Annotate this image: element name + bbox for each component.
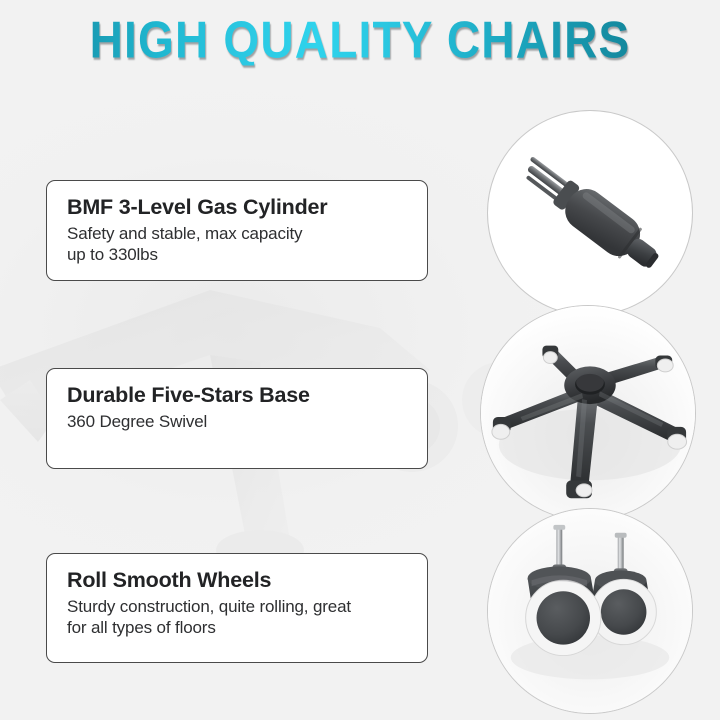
feature-title: Durable Five-Stars Base [67,383,407,408]
feature-title: Roll Smooth Wheels [67,568,407,593]
feature-description: Sturdy construction, quite rolling, grea… [67,596,407,640]
product-image-gas-cylinder [487,110,693,316]
product-image-five-star-base [480,305,696,521]
feature-card-five-star-base: Durable Five-Stars Base 360 Degree Swive… [46,368,428,469]
feature-card-gas-cylinder: BMF 3-Level Gas Cylinder Safety and stab… [46,180,428,281]
feature-title: BMF 3-Level Gas Cylinder [67,195,407,220]
page-title-container: HIGH QUALITY CHAIRS [0,14,720,60]
product-image-caster-wheels [487,508,693,714]
feature-description: Safety and stable, max capacity up to 33… [67,223,407,267]
feature-description: 360 Degree Swivel [67,411,407,433]
infographic-page: HIGH QUALITY CHAIRS BMF 3-Level Gas Cyli… [0,0,720,720]
feature-card-roll-smooth-wheels: Roll Smooth Wheels Sturdy construction, … [46,553,428,663]
page-title: HIGH QUALITY CHAIRS [90,14,631,66]
